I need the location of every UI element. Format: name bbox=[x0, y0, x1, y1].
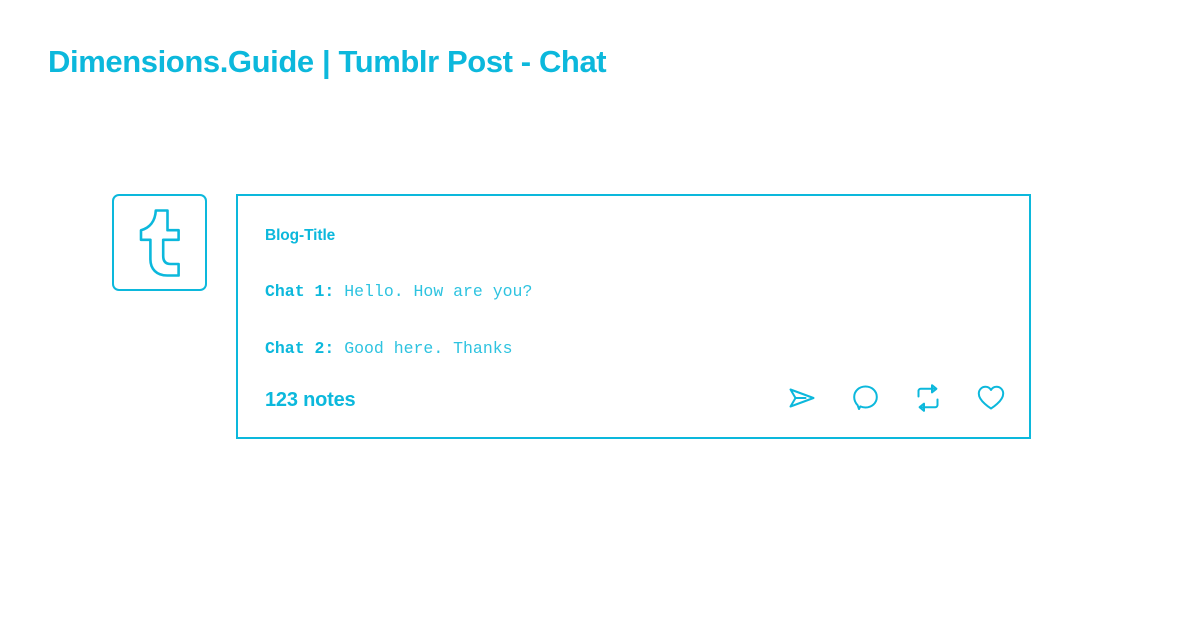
reply-icon[interactable] bbox=[850, 383, 880, 413]
chat-speaker: Chat 2: bbox=[265, 339, 334, 358]
post-card: Blog-Title Chat 1: Hello. How are you? C… bbox=[236, 194, 1031, 439]
page-title: Dimensions.Guide | Tumblr Post - Chat bbox=[48, 44, 606, 80]
tumblr-logo-icon bbox=[133, 209, 187, 277]
chat-line: Chat 2: Good here. Thanks bbox=[265, 339, 513, 358]
post-actions bbox=[787, 383, 1006, 413]
chat-message: Good here. Thanks bbox=[334, 339, 512, 358]
share-icon[interactable] bbox=[787, 383, 817, 413]
notes-count[interactable]: 123 notes bbox=[265, 389, 355, 412]
like-icon[interactable] bbox=[976, 383, 1006, 413]
chat-line: Chat 1: Hello. How are you? bbox=[265, 282, 532, 301]
reblog-icon[interactable] bbox=[913, 383, 943, 413]
chat-speaker: Chat 1: bbox=[265, 282, 334, 301]
avatar[interactable] bbox=[112, 194, 207, 291]
blog-title[interactable]: Blog-Title bbox=[265, 227, 335, 245]
chat-message: Hello. How are you? bbox=[334, 282, 532, 301]
